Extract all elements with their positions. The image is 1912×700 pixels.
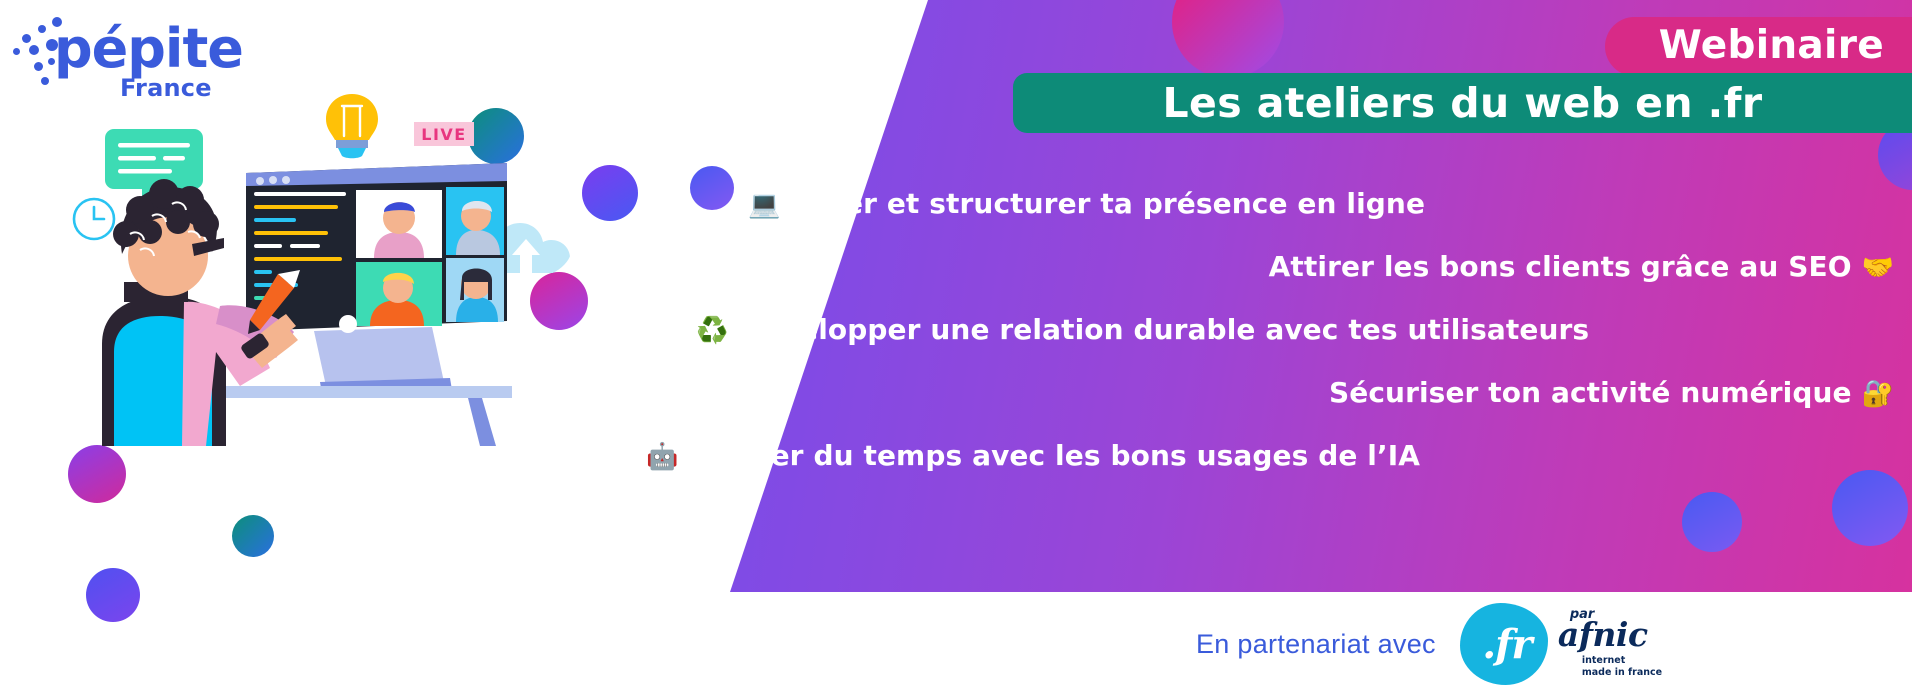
topic-item-3: ♻️ Développer une relation durable avec …: [696, 316, 1589, 344]
decorative-circle-teal-blue-2: [232, 515, 274, 557]
logo-dot: [38, 25, 46, 33]
afnic-logo: par afnic internet made in france: [1556, 605, 1668, 683]
topic-item-3-label: Développer une relation durable avec tes…: [738, 313, 1589, 346]
clock-icon: [74, 199, 114, 239]
fr-logo-label: .fr: [1458, 601, 1550, 687]
title-band: Les ateliers du web en .fr: [1013, 73, 1912, 133]
webinaire-badge: Webinaire: [1605, 17, 1912, 76]
topic-item-1-label: Créer et structurer ta présence en ligne: [790, 187, 1425, 220]
live-badge: LIVE: [414, 122, 474, 146]
partnership-footer: En partenariat avec .fr par afnic intern…: [1196, 604, 1668, 684]
topic-item-5-label: Gagner du temps avec les bons usages de …: [688, 439, 1420, 472]
participant-tile-4: [446, 258, 504, 322]
logo-dot: [41, 77, 49, 85]
topic-item-5: 🤖 Gagner du temps avec les bons usages d…: [646, 442, 1420, 470]
topic-item-2-label: Attirer les bons clients grâce au SEO: [1269, 250, 1852, 283]
laptop-emoji: 💻: [748, 190, 780, 220]
logo-dot: [22, 34, 31, 43]
decorative-circle-magenta-2: [68, 445, 126, 503]
logo-wordmark: pépite: [54, 22, 243, 76]
participant-tile-1: [356, 190, 442, 258]
afnic-tagline-line-1: internet: [1582, 655, 1662, 667]
topic-item-2: Attirer les bons clients grâce au SEO 🤝: [1269, 253, 1894, 281]
topic-item-4: Sécuriser ton activité numérique 🔐: [1329, 379, 1894, 407]
page-title: Les ateliers du web en .fr: [1163, 83, 1763, 124]
lock-key-emoji: 🔐: [1862, 379, 1894, 409]
afnic-tagline-line-2: made in france: [1582, 667, 1662, 679]
webinar-banner: pépite France: [0, 0, 1912, 700]
participant-tile-2: [446, 187, 504, 255]
decorative-circle-violet-2: [86, 568, 140, 622]
robot-emoji: 🤖: [646, 442, 678, 472]
lightbulb-icon: [326, 94, 378, 158]
illustration-svg: LIVE: [64, 86, 584, 446]
afnic-wordmark: afnic: [1558, 618, 1648, 651]
decorative-circle-violet-1: [582, 165, 638, 221]
topic-item-1: 💻 Créer et structurer ta présence en lig…: [748, 190, 1425, 218]
handshake-emoji: 🤝: [1862, 253, 1894, 283]
recycle-emoji: ♻️: [696, 316, 728, 346]
decorative-circle-panel-3: [1832, 470, 1908, 546]
decorative-circle-panel-2: [1682, 492, 1742, 552]
logo-dot: [29, 45, 39, 55]
topic-list: 💻 Créer et structurer ta présence en lig…: [640, 172, 1912, 472]
logo-dot: [34, 62, 43, 71]
partnership-label: En partenariat avec: [1196, 629, 1436, 660]
topic-item-4-label: Sécuriser ton activité numérique: [1329, 376, 1852, 409]
webinar-illustration: LIVE: [64, 86, 584, 446]
logo-dot: [13, 48, 20, 55]
fr-logo: .fr: [1458, 601, 1550, 687]
participant-tile-3: [356, 262, 442, 326]
svg-text:LIVE: LIVE: [421, 125, 466, 144]
afnic-tagline: internet made in france: [1582, 655, 1662, 679]
